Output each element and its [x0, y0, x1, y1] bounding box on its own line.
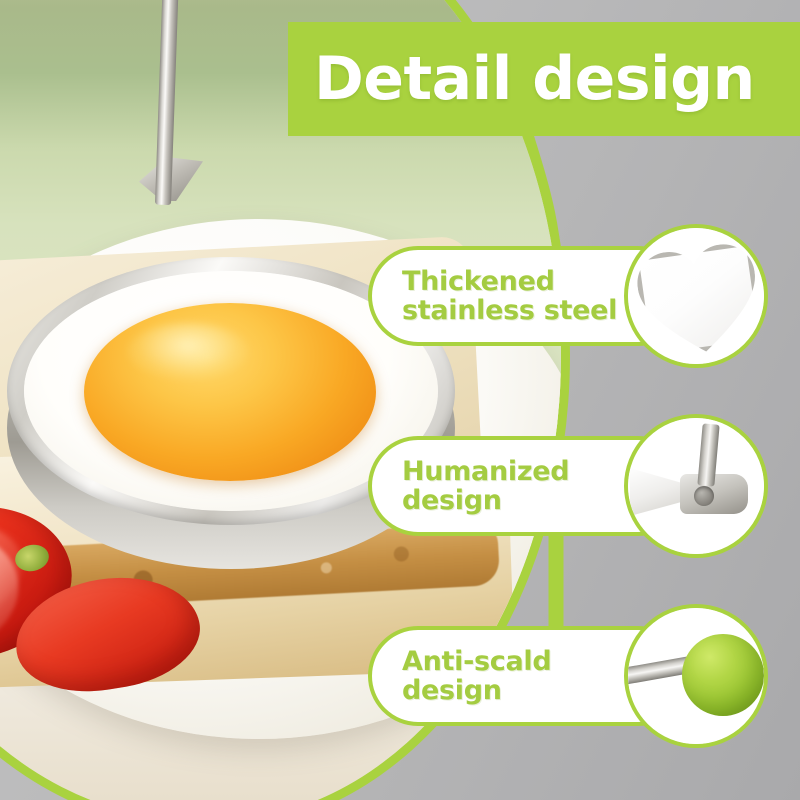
feature-image-bubble: [624, 604, 768, 748]
heart-mold-face: [631, 238, 764, 362]
feature-image-bubble: [624, 224, 768, 368]
egg-yolk-highlight: [128, 323, 248, 379]
feature-callout-humanized-design[interactable]: Humanized design: [368, 436, 768, 536]
feature-callout-anti-scald-design[interactable]: Anti-scald design: [368, 626, 768, 726]
egg-yolk: [84, 303, 376, 481]
feature-callout-thickened-stainless-steel[interactable]: Thickened stainless steel: [368, 246, 768, 346]
title-banner: Detail design: [288, 22, 800, 136]
green-ball-handle-icon: [628, 608, 764, 744]
feature-image-bubble: [624, 414, 768, 558]
handle-bracket-art: [628, 418, 764, 554]
green-ball-handle-art: [628, 608, 764, 744]
page-title: Detail design: [314, 49, 755, 109]
ball-handle-knob: [682, 634, 764, 716]
heart-mold-icon: [628, 228, 764, 364]
heart-mold-art: [634, 230, 764, 362]
bracket-rivet: [694, 486, 714, 506]
handle-bracket-icon: [628, 418, 764, 554]
product-detail-poster: Detail design Thickened stainless steel …: [0, 0, 800, 800]
